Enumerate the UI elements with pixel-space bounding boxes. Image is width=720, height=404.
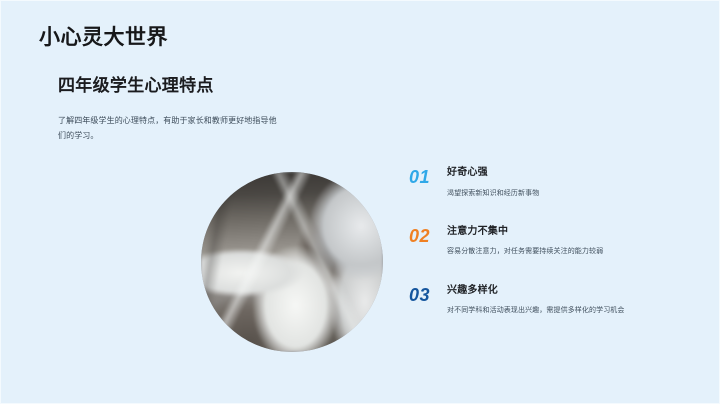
feature-title-02: 注意力不集中 — [447, 226, 681, 239]
slide-root: 小心灵大世界 四年级学生心理特点 了解四年级学生的心理特点，有助于家长和教师更好… — [0, 0, 720, 404]
feature-description-02: 容易分散注意力，对任务需要持续关注的能力较弱 — [447, 245, 681, 258]
list-item[interactable]: 01 好奇心强 渴望探索新知识和经历新事物 — [409, 167, 681, 200]
section-heading: 四年级学生心理特点 — [58, 75, 214, 97]
list-item[interactable]: 02 注意力不集中 容易分散注意力，对任务需要持续关注的能力较弱 — [409, 226, 681, 259]
feature-number-03: 03 — [409, 285, 443, 304]
feature-number-01: 01 — [409, 167, 443, 186]
feature-title-03: 兴趣多样化 — [447, 285, 681, 298]
feature-body: 注意力不集中 容易分散注意力，对任务需要持续关注的能力较弱 — [443, 226, 681, 259]
list-item[interactable]: 03 兴趣多样化 对不同学科和活动表现出兴趣，需提供多样化的学习机会 — [409, 285, 681, 318]
feature-list: 01 好奇心强 渴望探索新知识和经历新事物 02 注意力不集中 容易分散注意力，… — [409, 167, 681, 317]
feature-title-01: 好奇心强 — [447, 167, 681, 180]
feature-number-02: 02 — [409, 226, 443, 245]
feature-body: 兴趣多样化 对不同学科和活动表现出兴趣，需提供多样化的学习机会 — [443, 285, 681, 318]
feature-body: 好奇心强 渴望探索新知识和经历新事物 — [443, 167, 681, 200]
section-description: 了解四年级学生的心理特点，有助于家长和教师更好地指导他们的学习。 — [58, 114, 282, 144]
classroom-photo — [201, 172, 383, 352]
feature-description-01: 渴望探索新知识和经历新事物 — [447, 187, 681, 200]
photo-highlight-overlay — [201, 172, 383, 352]
page-title: 小心灵大世界 — [39, 24, 168, 51]
feature-description-03: 对不同学科和活动表现出兴趣，需提供多样化的学习机会 — [447, 304, 681, 317]
